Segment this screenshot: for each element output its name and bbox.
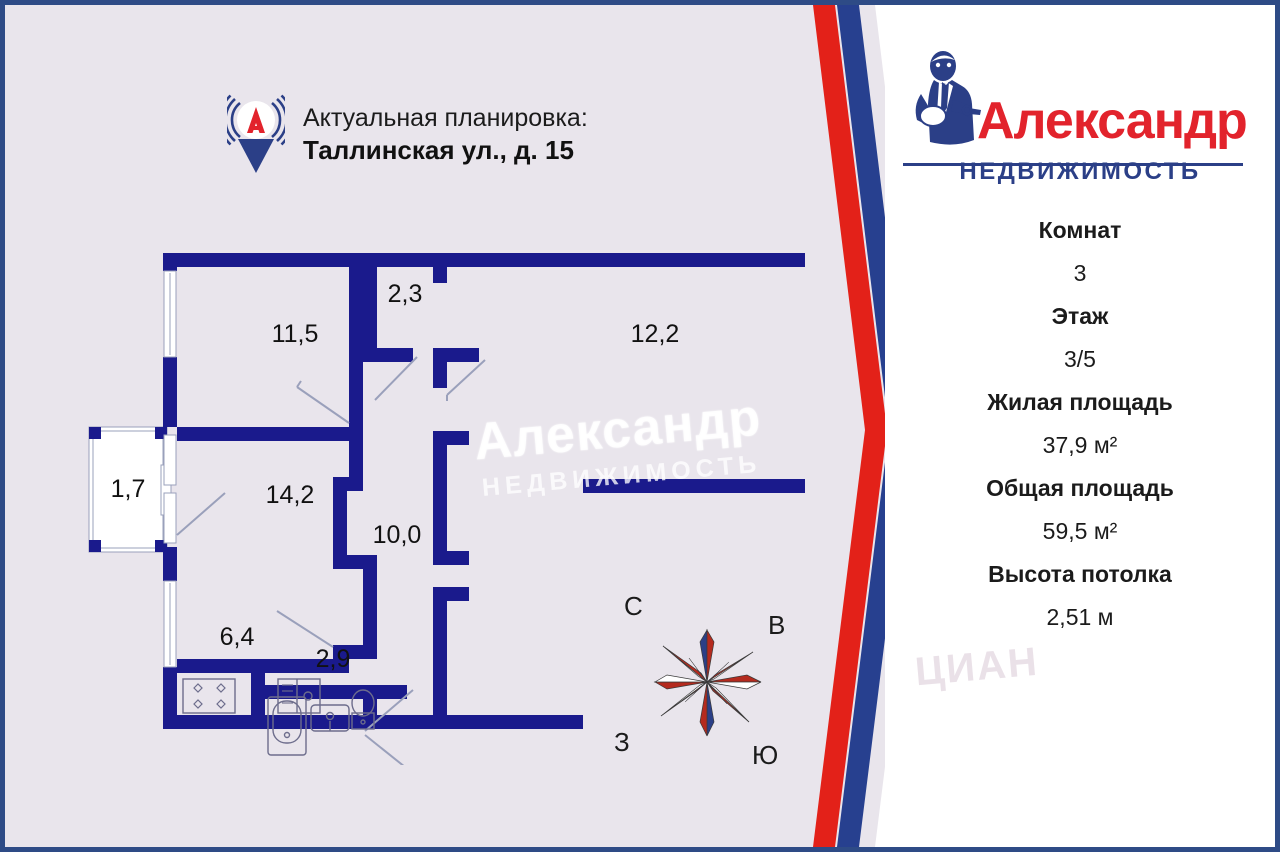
room-label-12-2: 12,2 — [631, 320, 680, 348]
header-caption: Актуальная планировка: — [303, 102, 588, 134]
room-label-6-4: 6,4 — [220, 623, 255, 651]
spec-ceiling-height-label: Высота потолка — [885, 561, 1275, 588]
divider-red-stripe — [813, 5, 887, 847]
spec-rooms: Комнат 3 — [885, 217, 1275, 287]
spec-floor-label: Этаж — [885, 303, 1275, 330]
map-pin-icon — [227, 93, 285, 177]
room-label-10-0: 10,0 — [373, 521, 422, 549]
spec-rooms-label: Комнат — [885, 217, 1275, 244]
room-label-11-5: 11,5 — [272, 320, 319, 348]
brand-name: Александр — [977, 97, 1247, 146]
info-panel: Александр НЕДВИЖИМОСТЬ Комнат 3 Этаж 3/5… — [885, 5, 1275, 847]
compass-star-icon — [652, 625, 762, 740]
plan-header: Актуальная планировка: Таллинская ул., д… — [227, 93, 588, 177]
realtor-figure-icon — [903, 50, 981, 160]
room-label-2-9: 2,9 — [316, 645, 351, 673]
header-text-block: Актуальная планировка: Таллинская ул., д… — [303, 102, 588, 167]
floorplan-page: Актуальная планировка: Таллинская ул., д… — [0, 0, 1280, 852]
spec-floor: Этаж 3/5 — [885, 303, 1275, 373]
spec-total-area-value: 59,5 м² — [885, 518, 1275, 545]
spec-total-area-label: Общая площадь — [885, 475, 1275, 502]
spec-total-area: Общая площадь 59,5 м² — [885, 475, 1275, 545]
header-address: Таллинская ул., д. 15 — [303, 134, 588, 167]
spec-rooms-value: 3 — [885, 260, 1275, 287]
floor-plan-panel: Актуальная планировка: Таллинская ул., д… — [5, 5, 885, 847]
spec-living-area: Жилая площадь 37,9 м² — [885, 389, 1275, 459]
compass-west-label: З — [614, 727, 630, 758]
spec-living-area-value: 37,9 м² — [885, 432, 1275, 459]
spec-floor-value: 3/5 — [885, 346, 1275, 373]
room-label-14-2: 14,2 — [266, 481, 315, 509]
brand-subtitle: НЕДВИЖИМОСТЬ — [903, 158, 1243, 186]
spec-ceiling-height: Высота потолка 2,51 м — [885, 561, 1275, 631]
room-label-1-7: 1,7 — [111, 475, 146, 503]
room-label-2-3: 2,3 — [388, 280, 423, 308]
spec-living-area-label: Жилая площадь — [885, 389, 1275, 416]
property-specs-list: Комнат 3 Этаж 3/5 Жилая площадь 37,9 м² … — [885, 217, 1275, 647]
spec-ceiling-height-value: 2,51 м — [885, 604, 1275, 631]
brand-logo: Александр НЕДВИЖИМОСТЬ — [903, 50, 1243, 186]
info-panel-watermark: ЦИАН — [913, 640, 1040, 696]
compass-north-label: С — [624, 591, 643, 622]
